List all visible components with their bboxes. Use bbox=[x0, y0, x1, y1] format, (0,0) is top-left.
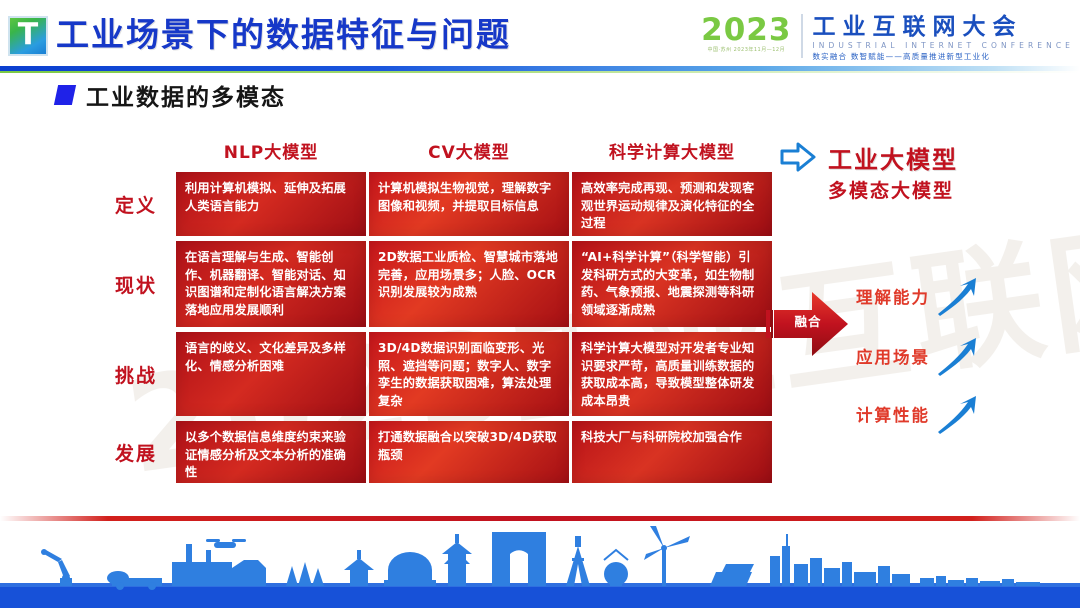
conference-year-block: 2023 中国·苏州 2023年11月—12月 bbox=[701, 14, 801, 54]
cell-definition-sci: 高效率完成再现、预测和发现客观世界运动规律及演化特征的全过程 bbox=[572, 172, 772, 236]
column-header-cv: CV大模型 bbox=[369, 140, 569, 172]
square-bullet-icon bbox=[54, 85, 76, 105]
blue-up-arrow-icon bbox=[934, 276, 980, 316]
cell-status-nlp: 在语言理解与生成、智能创作、机器翻译、智能对话、知识图谱和定制化语言解决方案落地… bbox=[176, 241, 366, 327]
city-skyline-icon bbox=[0, 520, 1080, 608]
right-panel: 工业大模型 多模态大模型 融合 理解能力 应用场景 计算性能 bbox=[780, 138, 1080, 438]
cell-development-sci: 科技大厂与科研院校加强合作 bbox=[572, 421, 772, 483]
capability-label: 应用场景 bbox=[856, 344, 930, 368]
section-title: 工业数据的多模态 bbox=[86, 78, 286, 112]
table-row: 现状 在语言理解与生成、智能创作、机器翻译、智能对话、知识图谱和定制化语言解决方… bbox=[96, 241, 786, 327]
blue-up-arrow-icon bbox=[934, 394, 980, 434]
page-footer bbox=[0, 516, 1080, 608]
capability-item-scenario: 应用场景 bbox=[856, 336, 980, 376]
blue-up-arrow-icon bbox=[934, 336, 980, 376]
section-heading: 工业数据的多模态 bbox=[56, 78, 286, 112]
capability-item-understanding: 理解能力 bbox=[856, 276, 980, 316]
capability-label: 计算性能 bbox=[856, 402, 930, 426]
row-label-status: 现状 bbox=[96, 241, 176, 327]
conference-divider bbox=[801, 14, 803, 58]
cell-development-cv: 打通数据融合以突破3D/4D获取瓶颈 bbox=[369, 421, 569, 483]
conference-logo: 2023 中国·苏州 2023年11月—12月 工业互联网大会 INDUSTRI… bbox=[701, 14, 1074, 62]
conference-year-subtitle: 中国·苏州 2023年11月—12月 bbox=[701, 46, 791, 54]
row-label-challenge: 挑战 bbox=[96, 332, 176, 416]
cell-challenge-nlp: 语言的歧义、文化差异及多样化、情感分析困难 bbox=[176, 332, 366, 416]
cell-development-nlp: 以多个数据信息维度约束来验证情感分析及文本分析的准确性 bbox=[176, 421, 366, 483]
table-row: 定义 利用计算机模拟、延伸及拓展人类语言能力 计算机模拟生物视觉，理解数字图像和… bbox=[96, 172, 786, 236]
logo-letter: T bbox=[18, 20, 38, 50]
capability-label: 理解能力 bbox=[856, 284, 930, 308]
row-label-development: 发展 bbox=[96, 421, 176, 483]
conference-year: 2023 bbox=[701, 14, 791, 46]
cell-challenge-sci: 科学计算大模型对开发者专业知识要求严苛，高质量训练数据的获取成本高，导致模型整体… bbox=[572, 332, 772, 416]
table-row: 发展 以多个数据信息维度约束来验证情感分析及文本分析的准确性 打通数据融合以突破… bbox=[96, 421, 786, 483]
row-label-definition: 定义 bbox=[96, 172, 176, 236]
conference-name-cn: 工业互联网大会 bbox=[812, 14, 1074, 40]
column-header-nlp: NLP大模型 bbox=[176, 140, 366, 172]
hollow-right-arrow-icon bbox=[780, 142, 816, 172]
cell-status-sci: “AI+科学计算”（科学智能）引发科研方式的大变革，如生物制药、气象预报、地震探… bbox=[572, 241, 772, 327]
conference-name-en: INDUSTRIAL INTERNET CONFERENCE bbox=[812, 40, 1074, 51]
multimodal-model-subtitle: 多模态大模型 bbox=[828, 176, 954, 203]
cell-status-cv: 2D数据工业质检、智慧城市落地完善，应用场景多；人脸、OCR识别发展较为成熟 bbox=[369, 241, 569, 327]
company-t-logo-icon: T bbox=[8, 16, 48, 56]
capability-item-performance: 计算性能 bbox=[856, 394, 980, 434]
conference-name-block: 工业互联网大会 INDUSTRIAL INTERNET CONFERENCE 数… bbox=[812, 14, 1074, 62]
industrial-model-title: 工业大模型 bbox=[828, 140, 958, 175]
column-header-sci: 科学计算大模型 bbox=[572, 140, 772, 172]
conference-tagline: 数实融合 数智赋能——高质量推进新型工业化 bbox=[812, 51, 1074, 62]
cell-challenge-cv: 3D/4D数据识别面临变形、光照、遮挡等问题；数字人、数字孪生的数据获取困难，算… bbox=[369, 332, 569, 416]
matrix-column-headers: NLP大模型 CV大模型 科学计算大模型 bbox=[176, 140, 786, 172]
cell-definition-nlp: 利用计算机模拟、延伸及拓展人类语言能力 bbox=[176, 172, 366, 236]
page-title: 工业场景下的数据特征与问题 bbox=[56, 10, 511, 60]
cell-definition-cv: 计算机模拟生物视觉，理解数字图像和视频，并提取目标信息 bbox=[369, 172, 569, 236]
header-divider-green bbox=[0, 71, 1080, 73]
comparison-matrix: NLP大模型 CV大模型 科学计算大模型 定义 利用计算机模拟、延伸及拓展人类语… bbox=[96, 140, 786, 488]
fusion-label: 融合 bbox=[786, 314, 830, 330]
table-row: 挑战 语言的歧义、文化差异及多样化、情感分析困难 3D/4D数据识别面临变形、光… bbox=[96, 332, 786, 416]
